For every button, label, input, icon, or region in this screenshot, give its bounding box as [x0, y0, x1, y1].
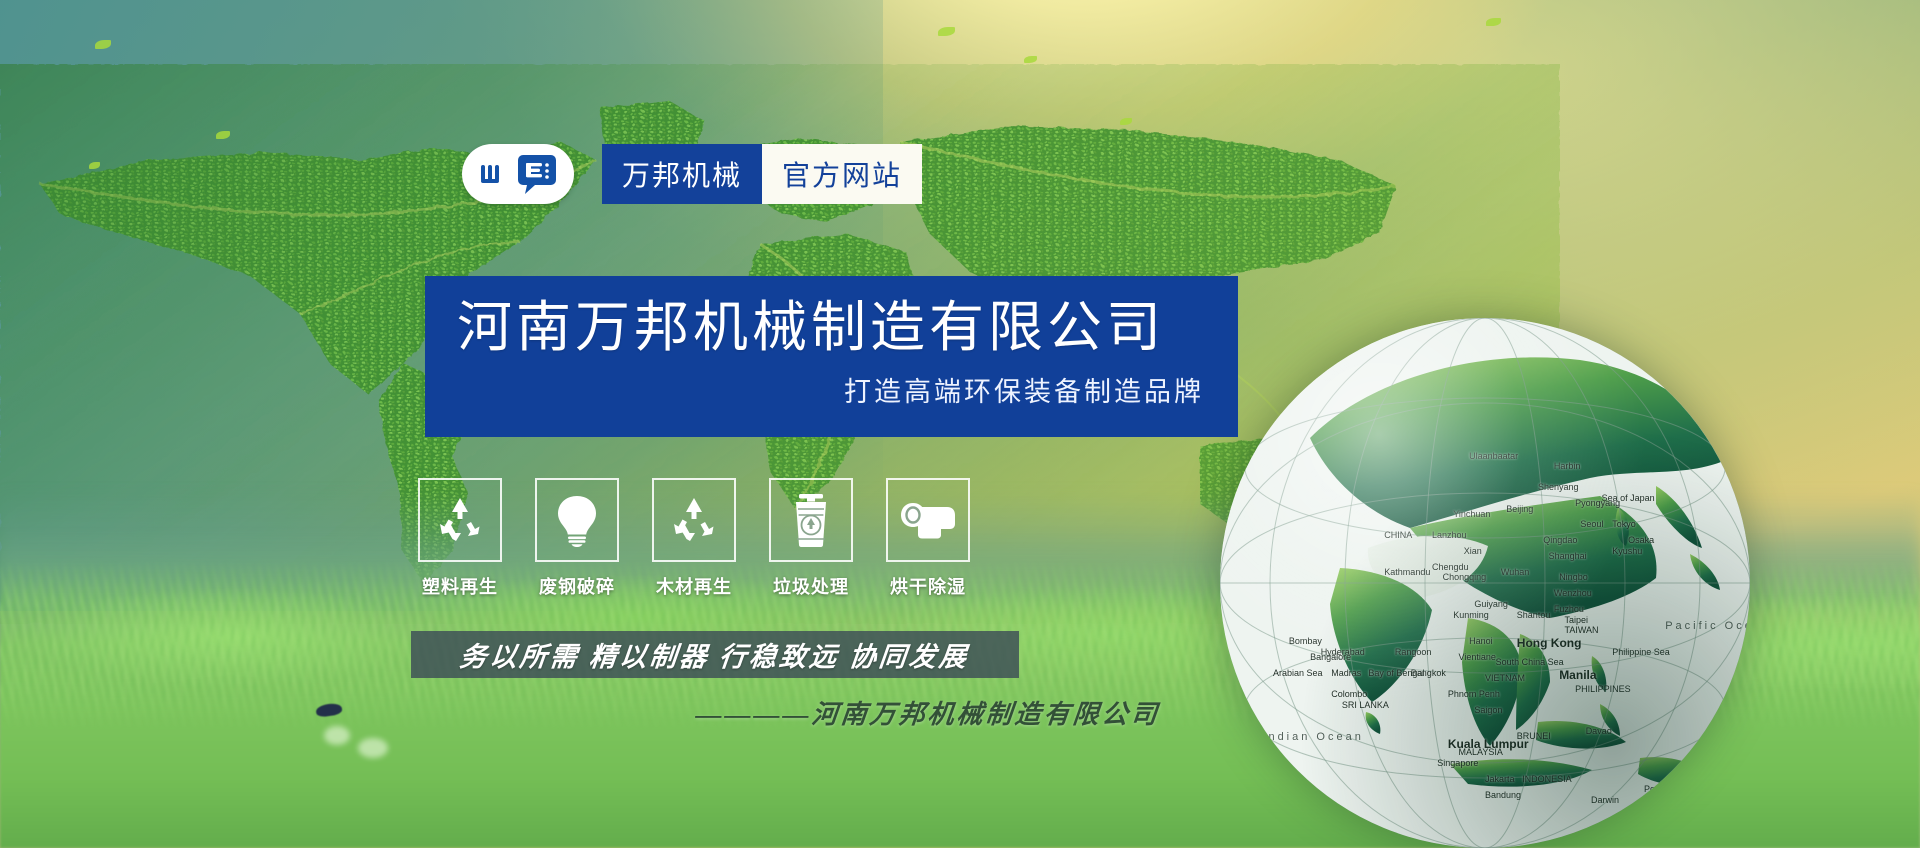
slogan-signature: ————河南万邦机械制造有限公司: [646, 694, 1210, 731]
recycle-icon: [652, 478, 736, 562]
company-name: 河南万邦机械制造有限公司: [457, 298, 1204, 356]
feature-item[interactable]: 烘干除湿: [886, 478, 970, 599]
bokeh-dot: [324, 726, 350, 745]
feature-icon-row: 塑料再生 废钢破碎: [418, 478, 970, 599]
slogan-text: 务以所需 精以制器 行稳致远 协同发展: [458, 635, 971, 674]
feature-label: 塑料再生: [418, 573, 502, 599]
recycle-icon: [418, 478, 502, 562]
trash-bin-icon: [769, 478, 853, 562]
wb-logo-icon[interactable]: [462, 144, 574, 204]
dryer-blower-icon: [886, 478, 970, 562]
site-tag-tab[interactable]: 官方网站: [762, 144, 922, 204]
feature-label: 垃圾处理: [769, 573, 853, 599]
slogan-bar: 务以所需 精以制器 行稳致远 协同发展: [411, 631, 1019, 678]
feature-label: 木材再生: [652, 573, 736, 599]
hero-title-panel: 河南万邦机械制造有限公司 打造高端环保装备制造品牌: [425, 276, 1238, 437]
feature-item[interactable]: 塑料再生: [418, 478, 502, 599]
feature-label: 烘干除湿: [886, 573, 970, 599]
site-header: 万邦机械 官方网站: [462, 144, 922, 204]
feature-item[interactable]: 木材再生: [652, 478, 736, 599]
company-tagline: 打造高端环保装备制造品牌: [457, 370, 1204, 409]
hero-banner: UlaanbaatarBeijingLanzhouXianCHINAChengd…: [0, 0, 1920, 848]
globe-graphic: UlaanbaatarBeijingLanzhouXianCHINAChengd…: [1220, 318, 1750, 848]
feature-label: 废钢破碎: [535, 573, 619, 599]
feature-item[interactable]: 垃圾处理: [769, 478, 853, 599]
lightbulb-icon: [535, 478, 619, 562]
brand-name-tab[interactable]: 万邦机械: [602, 144, 762, 204]
bokeh-dot: [358, 738, 388, 758]
feature-item[interactable]: 废钢破碎: [535, 478, 619, 599]
